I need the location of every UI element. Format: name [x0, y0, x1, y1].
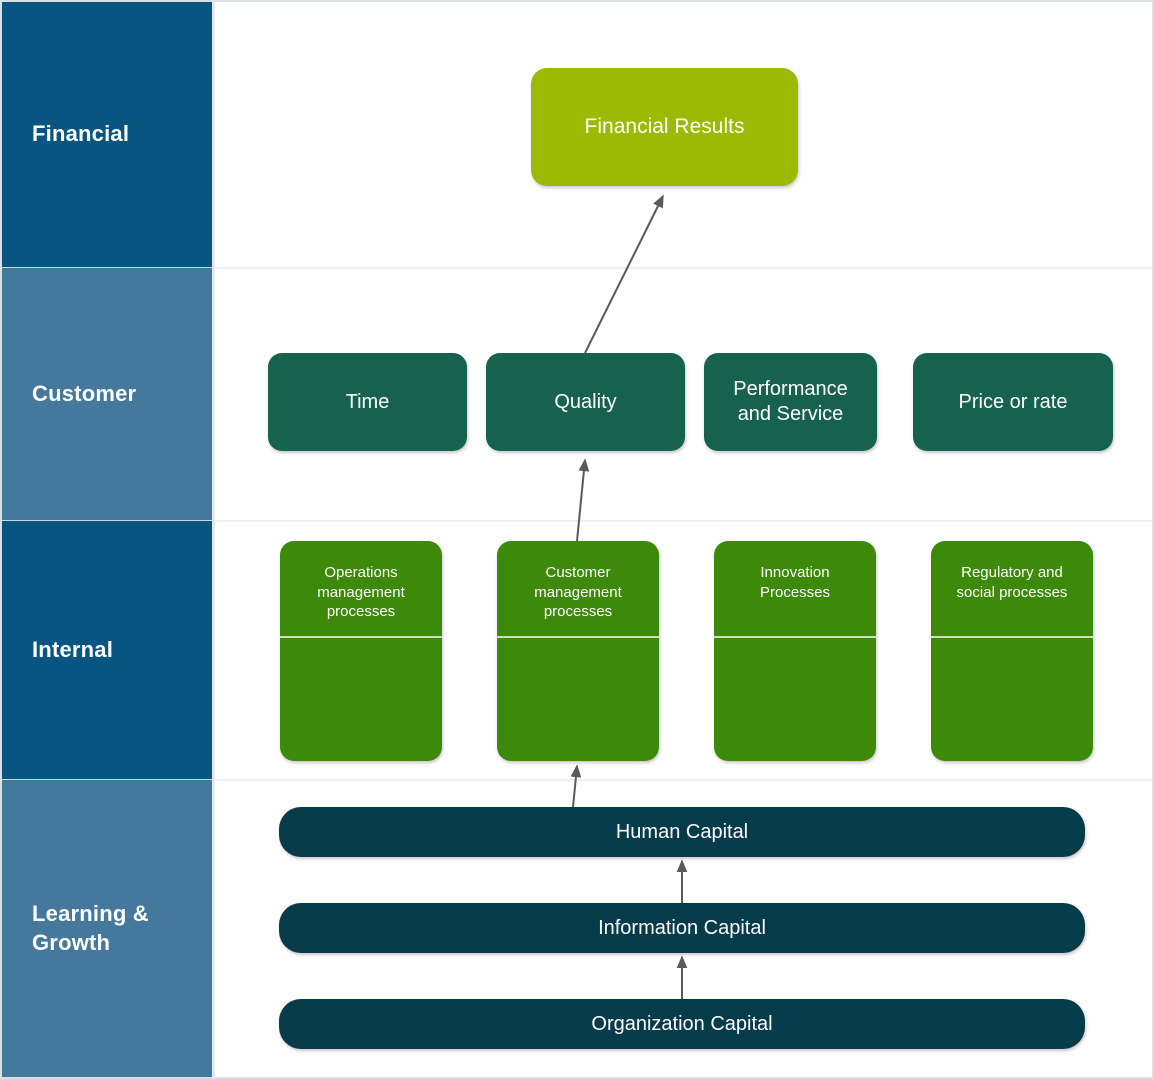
perspective-label-financial: Financial: [2, 120, 137, 148]
node-quality[interactable]: Quality: [486, 353, 685, 451]
node-regulatory-and-social-processes[interactable]: Regulatory and social processes: [931, 541, 1093, 761]
strategy-map: Financial Customer Internal Learning & G…: [0, 0, 1154, 1079]
perspective-label-learning: Learning & Growth: [2, 900, 212, 956]
node-customer-management-processes-label: Customer management processes: [497, 541, 659, 622]
node-financial-results-label: Financial Results: [531, 115, 798, 139]
node-performance-and-service-label: Performance and Service: [704, 377, 877, 427]
row-separator-financial-customer: [214, 267, 1152, 269]
connector-human-capital-to-customer-management: [573, 766, 577, 807]
node-operations-management-processes[interactable]: Operations management processes: [280, 541, 442, 761]
perspective-cell-internal: Internal: [2, 521, 212, 780]
node-financial-results[interactable]: Financial Results: [531, 68, 798, 186]
node-time-label: Time: [268, 390, 467, 415]
perspective-label-internal: Internal: [2, 636, 121, 664]
perspective-label-customer: Customer: [2, 380, 144, 408]
connector-customer-management-to-quality: [577, 460, 585, 541]
node-innovation-processes-divider: [714, 636, 876, 638]
node-organization-capital-label: Organization Capital: [279, 1013, 1085, 1036]
node-human-capital[interactable]: Human Capital: [279, 807, 1085, 857]
node-information-capital-label: Information Capital: [279, 917, 1085, 940]
node-quality-label: Quality: [486, 390, 685, 415]
node-customer-management-processes-divider: [497, 636, 659, 638]
node-innovation-processes-label: Innovation Processes: [714, 541, 876, 602]
node-operations-management-processes-label: Operations management processes: [280, 541, 442, 622]
row-separator-customer-internal: [214, 520, 1152, 522]
perspective-cell-financial: Financial: [2, 2, 212, 268]
node-price-or-rate-label: Price or rate: [913, 390, 1113, 415]
node-regulatory-and-social-processes-label: Regulatory and social processes: [931, 541, 1093, 602]
node-innovation-processes[interactable]: Innovation Processes: [714, 541, 876, 761]
node-time[interactable]: Time: [268, 353, 467, 451]
node-performance-and-service[interactable]: Performance and Service: [704, 353, 877, 451]
node-price-or-rate[interactable]: Price or rate: [913, 353, 1113, 451]
perspective-cell-customer: Customer: [2, 268, 212, 521]
perspective-cell-learning: Learning & Growth: [2, 780, 212, 1077]
connector-quality-to-financial-results: [585, 196, 663, 353]
node-regulatory-and-social-processes-divider: [931, 636, 1093, 638]
node-information-capital[interactable]: Information Capital: [279, 903, 1085, 953]
label-column-divider: [212, 0, 215, 1079]
node-human-capital-label: Human Capital: [279, 821, 1085, 844]
node-organization-capital[interactable]: Organization Capital: [279, 999, 1085, 1049]
node-operations-management-processes-divider: [280, 636, 442, 638]
row-separator-internal-learning: [214, 779, 1152, 781]
node-customer-management-processes[interactable]: Customer management processes: [497, 541, 659, 761]
